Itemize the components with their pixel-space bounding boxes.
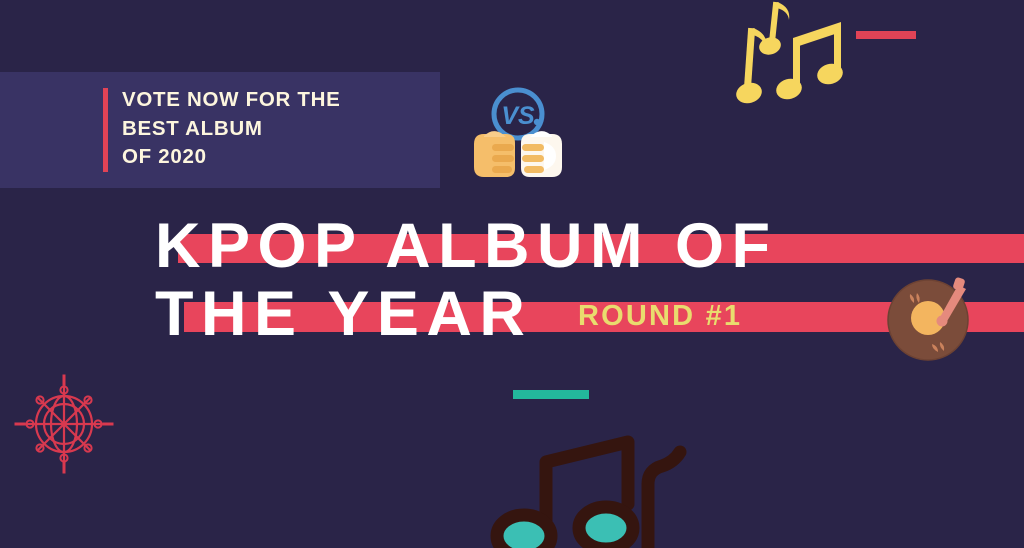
page-title-line-2: THE YEAR: [155, 283, 532, 346]
page-title-line-1: KPOP ALBUM OF: [155, 215, 778, 278]
versus-fist-bump-emoji: VS: [462, 84, 574, 184]
poster-canvas: VOTE NOW FOR THE BEST ALBUM OF 2020 KPOP…: [0, 0, 1024, 548]
vinyl-record-turntable-emoji: [884, 272, 980, 364]
subheadline-line-2: BEST ALBUM: [122, 115, 422, 144]
subheadline-line-3: OF 2020: [122, 143, 422, 172]
svg-text:VS: VS: [501, 102, 535, 130]
beamed-eighth-notes-graphic: [478, 432, 710, 548]
round-label: ROUND #1: [578, 302, 742, 331]
red-dash-icon: [856, 31, 916, 39]
subheadline-accent-rule: [103, 88, 108, 172]
compass-star-ornament: [8, 368, 120, 480]
subheadline-text: VOTE NOW FOR THE BEST ALBUM OF 2020: [122, 86, 422, 172]
teal-dash-icon: [513, 390, 589, 399]
subheadline-line-1: VOTE NOW FOR THE: [122, 86, 422, 115]
multiple-musical-notes-emoji: [735, 0, 860, 122]
